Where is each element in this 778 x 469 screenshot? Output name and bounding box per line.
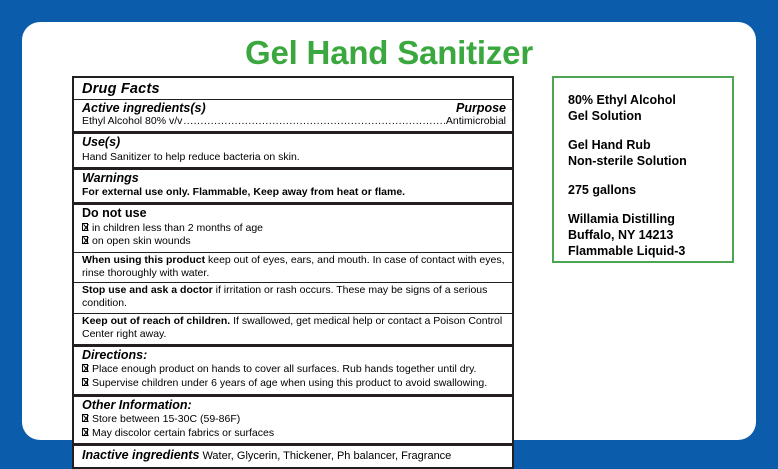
warnings-heading: Warnings (82, 171, 506, 187)
directions-section: Directions: Place enough product on hand… (74, 344, 512, 394)
info-line: Gel Hand Rub (568, 137, 720, 153)
info-line: Buffalo, NY 14213 (568, 227, 720, 243)
info-line: 80% Ethyl Alcohol (568, 92, 720, 108)
inactive-ingredients-row: Inactive ingredients Water, Glycerin, Th… (82, 447, 506, 463)
bullet-tofu-icon (82, 223, 88, 231)
keep-out-of-reach-section: Keep out of reach of children. If swallo… (74, 313, 512, 344)
list-item: on open skin wounds (82, 235, 506, 249)
bullet-tofu-icon (82, 378, 88, 386)
do-not-use-heading: Do not use (82, 206, 506, 222)
when-using-text: When using this product keep out of eyes… (82, 254, 506, 280)
product-label-card: Gel Hand Sanitizer Drug Facts Active ing… (22, 22, 756, 440)
inactive-ingredients-heading: Inactive ingredients (82, 448, 199, 462)
active-ingredient-purpose: Antimicrobial (446, 115, 506, 128)
bullet-tofu-icon (82, 428, 88, 436)
keep-out-lead: Keep out of reach of children. (82, 315, 230, 327)
list-item: in children less than 2 months of age (82, 222, 506, 236)
info-line: Gel Solution (568, 108, 720, 124)
when-using-section: When using this product keep out of eyes… (74, 252, 512, 283)
bullet-tofu-icon (82, 414, 88, 422)
directions-heading: Directions: (82, 348, 506, 364)
uses-heading: Use(s) (82, 135, 506, 151)
purpose-heading: Purpose (456, 101, 506, 115)
info-line: Willamia Distilling (568, 211, 720, 227)
active-ingredients-headings: Active ingredients(s) Purpose (82, 101, 506, 115)
list-item: May discolor certain fabrics or surfaces (82, 427, 506, 441)
active-ingredients-heading: Active ingredients(s) (82, 101, 206, 115)
active-ingredient-name: Ethyl Alcohol 80% v/v (82, 115, 182, 128)
page-title: Gel Hand Sanitizer (22, 34, 756, 72)
dot-leader: ........................................… (183, 115, 445, 128)
other-information-item: May discolor certain fabrics or surfaces (92, 427, 274, 441)
info-group-product-type: Gel Hand Rub Non-sterile Solution (568, 137, 720, 169)
active-ingredient-row: Ethyl Alcohol 80% v/v ..................… (82, 115, 506, 128)
info-group-formulation: 80% Ethyl Alcohol Gel Solution (568, 92, 720, 124)
info-group-manufacturer: Willamia Distilling Buffalo, NY 14213 Fl… (568, 211, 720, 259)
other-information-item: Store between 15-30C (59-86F) (92, 413, 240, 427)
uses-section: Use(s) Hand Sanitizer to help reduce bac… (74, 131, 512, 166)
keep-out-text: Keep out of reach of children. If swallo… (82, 315, 506, 341)
list-item: Place enough product on hands to cover a… (82, 363, 506, 377)
drug-facts-panel: Drug Facts Active ingredients(s) Purpose… (72, 76, 514, 469)
warnings-section: Warnings For external use only. Flammabl… (74, 167, 512, 202)
when-using-lead: When using this product (82, 254, 205, 266)
do-not-use-item: on open skin wounds (92, 235, 191, 249)
uses-text: Hand Sanitizer to help reduce bacteria o… (82, 151, 506, 164)
other-information-section: Other Information: Store between 15-30C … (74, 394, 512, 444)
info-group-volume: 275 gallons (568, 182, 720, 198)
inactive-ingredients-text: Water, Glycerin, Thickener, Ph balancer,… (199, 450, 451, 462)
list-item: Store between 15-30C (59-86F) (82, 413, 506, 427)
do-not-use-section: Do not use in children less than 2 month… (74, 202, 512, 252)
directions-item: Place enough product on hands to cover a… (92, 363, 476, 377)
stop-use-text: Stop use and ask a doctor if irritation … (82, 284, 506, 310)
info-line: 275 gallons (568, 182, 720, 198)
active-ingredients-section: Active ingredients(s) Purpose Ethyl Alco… (74, 100, 512, 131)
stop-use-lead: Stop use and ask a doctor (82, 284, 213, 296)
warnings-text: For external use only. Flammable, Keep a… (82, 186, 506, 199)
info-line: Non-sterile Solution (568, 153, 720, 169)
bullet-tofu-icon (82, 236, 88, 244)
inactive-ingredients-section: Inactive ingredients Water, Glycerin, Th… (74, 443, 512, 466)
directions-item: Supervise children under 6 years of age … (92, 377, 487, 391)
do-not-use-item: in children less than 2 months of age (92, 222, 263, 236)
other-information-heading: Other Information: (82, 398, 506, 414)
list-item: Supervise children under 6 years of age … (82, 377, 506, 391)
product-info-box: 80% Ethyl Alcohol Gel Solution Gel Hand … (552, 76, 734, 263)
bullet-tofu-icon (82, 364, 88, 372)
stop-use-section: Stop use and ask a doctor if irritation … (74, 282, 512, 313)
info-line: Flammable Liquid-3 (568, 243, 720, 259)
drug-facts-title: Drug Facts (74, 78, 512, 100)
